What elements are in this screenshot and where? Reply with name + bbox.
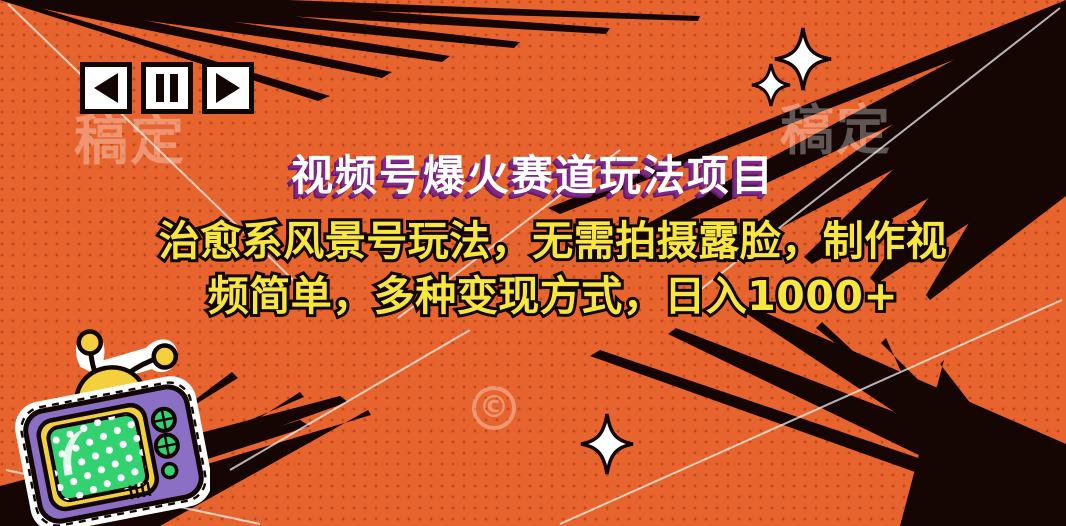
retro-tv-sticker [14,326,210,526]
previous-button[interactable] [80,62,132,114]
body-line-2: 频简单，多种变现方式，日入1000+ [86,269,1020,324]
pause-icon [156,74,178,102]
page-title: 视频号爆火赛道玩法项目 [0,142,1066,203]
pause-button[interactable] [141,62,193,114]
next-button[interactable] [202,62,254,114]
previous-icon [94,73,118,103]
body-line-1: 治愈系风景号玩法，无需拍摄露脸，制作视 [86,214,1020,269]
playback-controls [80,62,254,114]
body-copy: 治愈系风景号玩法，无需拍摄露脸，制作视 频简单，多种变现方式，日入1000+ [86,214,1020,324]
next-icon [216,73,240,103]
poster-canvas: 稿定 稿定 © 视频号爆火赛道玩法项目 治愈系风景号玩法，无需拍摄露脸，制作视 … [0,0,1066,526]
